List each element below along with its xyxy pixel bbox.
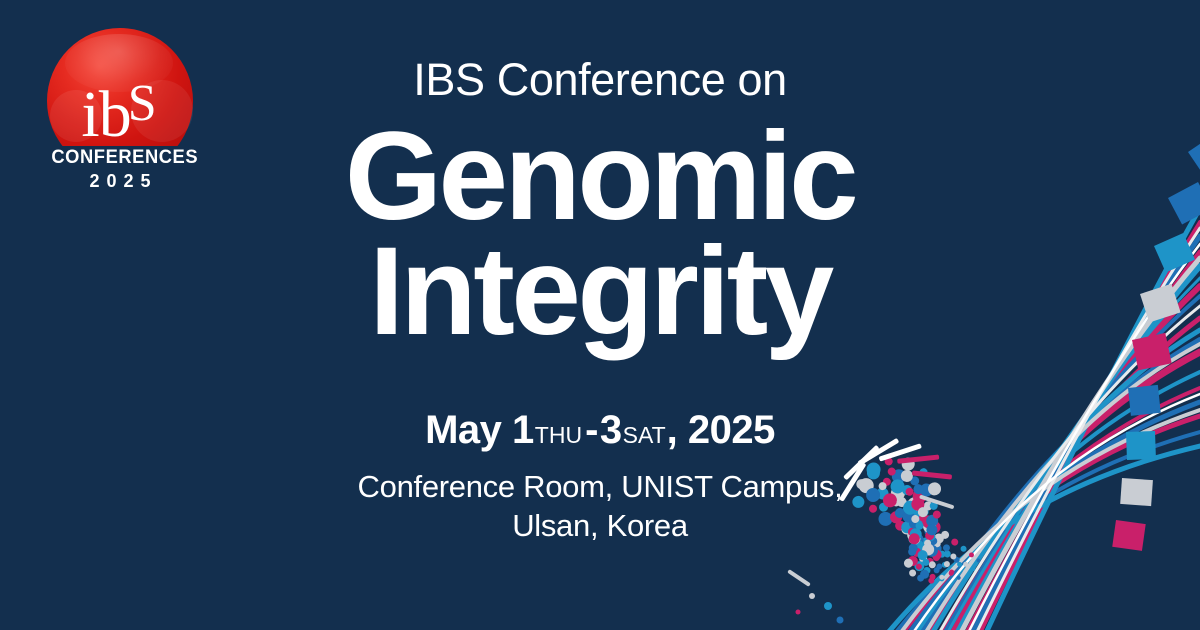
date-end-day: 3 (600, 408, 622, 453)
page-title-line-1: Genomic (345, 116, 855, 237)
date-start: May 1 (425, 408, 534, 453)
venue-line-2: Ulsan, Korea (358, 506, 843, 546)
eyebrow-text: IBS Conference on (413, 57, 786, 102)
event-venue: Conference Room, UNIST Campus, Ulsan, Ko… (358, 467, 843, 546)
page-title-line-2: Integrity (369, 231, 831, 352)
conference-banner: ibS CONFERENCES 2025 IBS Conference on G… (0, 0, 1200, 630)
date-end-weekday: SAT (622, 422, 667, 449)
date-start-weekday: THU (534, 422, 583, 449)
date-dash: - (583, 408, 600, 453)
venue-line-1: Conference Room, UNIST Campus, (358, 467, 843, 507)
event-date: May 1THU-3SAT, 2025 (425, 408, 775, 453)
date-year: , 2025 (667, 408, 775, 453)
banner-content: IBS Conference on Genomic Integrity May … (0, 0, 1200, 630)
